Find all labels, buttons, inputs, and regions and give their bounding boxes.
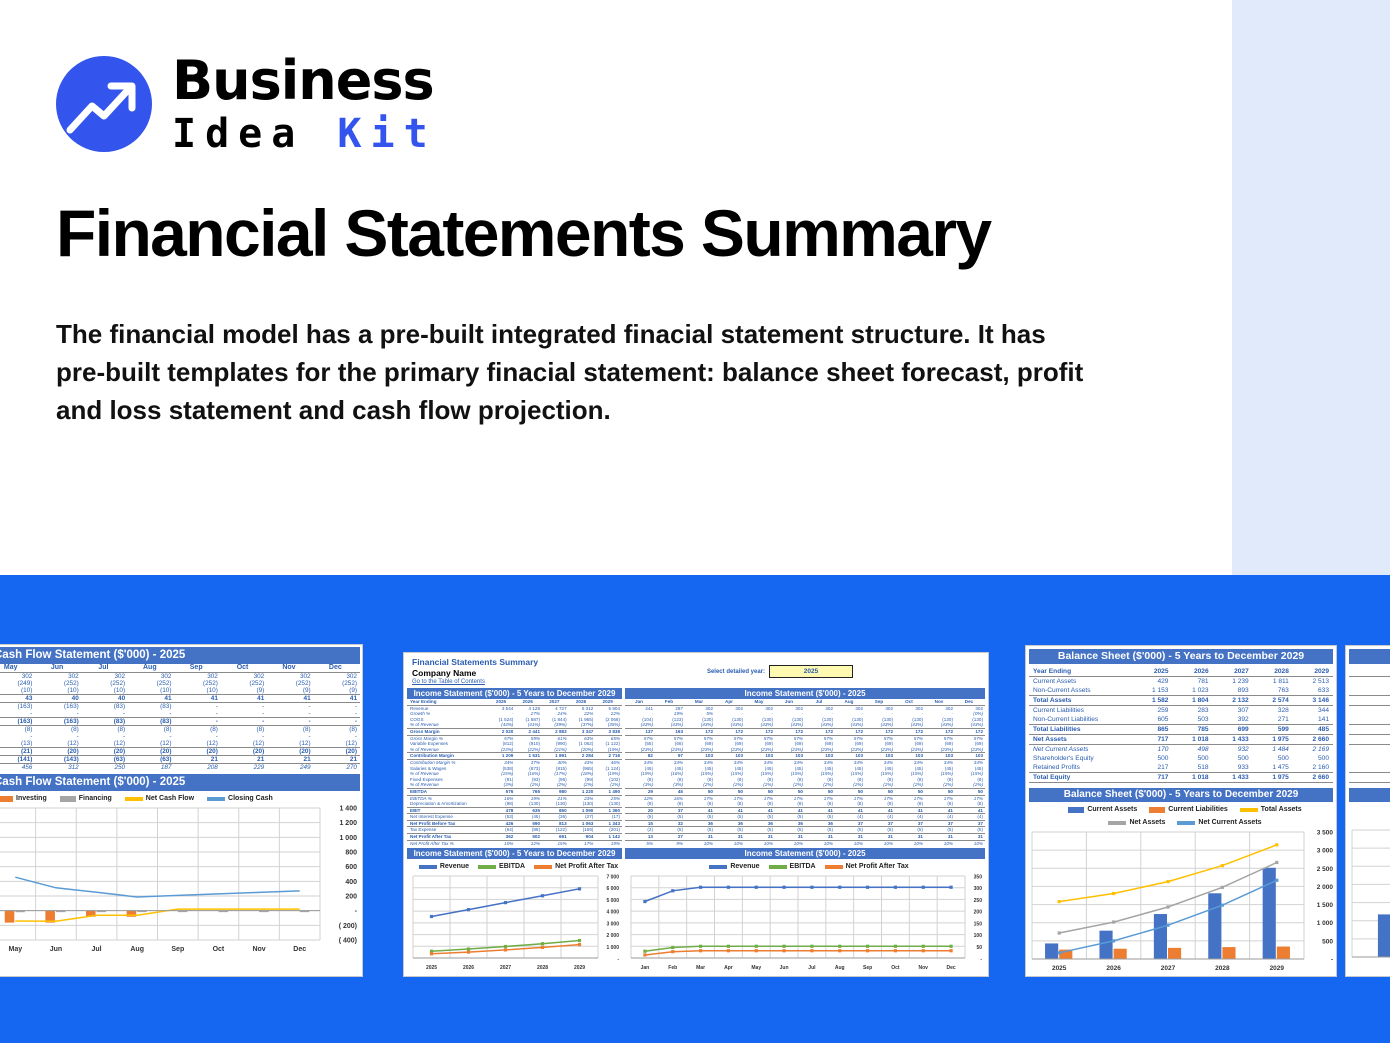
y-axis-tick: 2 000 [606,933,619,939]
chart-marker [838,886,841,889]
x-axis-tick: Mar [696,965,705,971]
y-axis-tick: 1 000 [606,945,619,951]
chart-marker [810,949,813,952]
chart-marker [1166,905,1169,908]
chart-marker [1275,879,1278,882]
x-axis-tick: Jan [641,965,650,971]
chart-marker [922,949,925,952]
legend-label: Total Assets [1261,806,1302,813]
partial-title-bar [1349,649,1390,664]
brand-logo: Business Idea Kit [56,54,437,154]
chart-marker [430,915,433,918]
chart-marker [755,945,758,948]
legend-item: Investing [0,795,47,802]
table-row: 203741414141414141414141 [625,807,985,814]
chart-marker [782,945,785,948]
monthly-income-statement-table: JanFebMarAprMayJunJulAugSepOctNovDec2412… [625,699,985,846]
legend-swatch [709,865,727,869]
table-row: Shareholder's Equity500500500500500 [1029,754,1333,763]
table-row: (163)(163)(83)(83)---- [0,703,360,711]
chart-svg: Jan [1346,826,1390,971]
legend-swatch [125,797,143,801]
legend-item: Net Assets [1108,819,1165,826]
table-row: Net Interest Expense(53)(45)(36)(27)(17) [407,814,622,821]
chart-marker [1166,924,1169,927]
table-row: 512 [1349,735,1390,745]
table-row: Contribution Margin1 2091 5311 8912 2842… [407,753,622,760]
brand-name-secondary: Idea Kit [172,114,437,154]
annual-income-statement-body: Year Ending20252026202720282029Revenue3 … [407,699,622,846]
y-axis-tick: 2 000 [1317,884,1334,891]
legend-item: Revenue [709,863,759,870]
table-row: MayJunJulAugSepOctNovDec [0,664,360,673]
table-row: EBIT4786358501 0901 360 [407,807,622,814]
table-row: -------- [0,710,360,718]
y-axis-tick: 1 000 [1317,920,1334,927]
y-axis-tick: 1 500 [1317,902,1334,909]
summary-sheet-title: Financial Statements Summary [404,653,988,667]
chart-marker [578,943,581,946]
table-row: 4340404141414141 [0,695,360,703]
chart-marker [643,954,646,957]
chart-marker [838,945,841,948]
x-axis-tick: 2025 [1052,965,1067,972]
chart-marker [643,950,646,953]
table-row: Total Equity7171 0181 4331 9752 660 [1029,773,1333,783]
chart-marker [866,945,869,948]
chart-marker [894,945,897,948]
legend-label: Closing Cash [228,795,273,802]
table-row: (141)(143)(63)(63)21212121 [0,756,360,764]
chart-marker [541,894,544,897]
y-axis-tick: 1 400 [339,806,357,813]
legend-label: Net Profit After Tax [846,863,909,870]
table-row: 93 [1349,706,1390,716]
balance-sheet-chart-legend: Current AssetsCurrent LiabilitiesTotal A… [1026,802,1336,828]
chart-marker [755,949,758,952]
chart-marker [894,949,897,952]
chart-marker [866,886,869,889]
table-row: 1 297 [1349,696,1390,706]
table-row: Retained Profits2175189331 4752 160 [1029,763,1333,773]
table-row: 302302302302302302302302 [0,673,360,681]
table-row: 5%9%10%10%10%10%10%10%10%10%10%10% [625,840,985,846]
x-axis-tick: May [9,946,23,953]
legend-label: Investing [16,795,47,802]
table-row: 456312250187208229249270 [0,764,360,772]
cash-flow-table-title: Cash Flow Statement ($'000) - 2025 [0,647,360,664]
table-row: (249)(252)(252)(252)(252)(252)(252)(252) [0,680,360,687]
cash-flow-chart-title: Cash Flow Statement ($'000) - 2025 [0,774,360,791]
y-axis-tick: 3 000 [1317,848,1334,855]
legend-label: Net Cash Flow [146,795,194,802]
legend-label: Financing [79,795,112,802]
table-row: 1 081 [1349,745,1390,755]
table-row: Tax Expense(64)(89)(122)(159)(201) [407,827,622,834]
x-axis-tick: 2028 [1215,965,1230,972]
y-axis-tick: - [1331,957,1333,964]
legend-item: EBITDA [769,863,816,870]
annual-income-chart-title: Income Statement ($'000) - 5 Years to De… [407,848,622,859]
y-axis-tick: 200 [974,910,983,916]
chart-bar [1208,893,1221,959]
chart-marker [810,945,813,948]
table-row: Current Assets4297811 2391 8112 513 [1029,677,1333,687]
legend-swatch [419,865,437,869]
x-axis-tick: Jun [780,965,789,971]
decorative-sidebar-band [1232,0,1390,575]
table-row: (163)(163)(83)(83)---- [0,718,360,726]
legend-label: Current Assets [1087,806,1137,813]
chart-marker [699,949,702,952]
chart-marker [782,949,785,952]
legend-swatch [1068,807,1084,813]
monthly-income-chart-legend: RevenueEBITDANet Profit After Tax [625,859,985,872]
legend-label: Current Liabilities [1168,806,1228,813]
chart-marker [578,939,581,942]
chart-marker [866,949,869,952]
balance-sheet-chart-title: Balance Sheet ($'000) - 5 Years to Decem… [1029,788,1333,802]
chart-bar [1099,931,1112,959]
x-axis-tick: Jun [50,946,62,953]
table-row: 153236363636363737373737 [625,820,985,827]
table-row: Net Current Assets1704989321 4842 169 [1029,745,1333,755]
legend-item: Net Profit After Tax [825,863,909,870]
partial-chart-title-bar [1349,788,1390,802]
x-axis-tick: Oct [213,946,225,953]
y-axis-tick: 50 [976,945,982,951]
legend-label: EBITDA [790,863,816,870]
table-row: Jan [1349,667,1390,677]
y-axis-tick: 4 000 [606,910,619,916]
chart-marker [671,889,674,892]
x-axis-tick: May [751,965,761,971]
table-row: (10)(10)(10)(10)(10)(9)(9)(9) [0,687,360,695]
table-row: (8)(8)(8)(8)(8)(8)(8)(8) [0,726,360,734]
chart-bar [1277,947,1290,959]
legend-swatch [825,865,843,869]
chart-marker [541,946,544,949]
y-axis-tick: - [355,908,358,915]
chart-bar [1378,914,1390,957]
x-axis-tick: Sep [171,946,184,953]
chart-marker [1058,951,1061,954]
annual-income-statement-title: Income Statement ($'000) - 5 Years to De… [407,688,622,699]
partial-balance-body: Jan1 1741241 297936927865121 08150012512 [1349,667,1390,783]
x-axis-tick: Aug [835,965,845,971]
x-axis-tick: 2029 [1270,965,1285,972]
table-row: EBITDA5767659801 2201 490 [407,788,622,795]
y-axis-tick: 200 [345,894,357,901]
legend-swatch [60,796,76,802]
table-row: Total Liabilities865785699599485 [1029,725,1333,735]
partial-chart-plot: Jan [1346,826,1390,971]
legend-swatch [1177,821,1195,825]
cash-flow-table: MayJunJulAugSepOctNovDec3023023023023023… [0,664,360,771]
table-row: -------- [0,733,360,740]
legend-swatch [769,865,787,869]
chart-marker [1112,920,1115,923]
cash-flow-table-body: MayJunJulAugSepOctNovDec3023023023023023… [0,664,360,771]
table-of-contents-link[interactable]: Go to the Table of Contents [404,678,988,685]
table-row: 512 [1349,773,1390,783]
monthly-income-statement-title: Income Statement ($'000) - 2025 [625,688,985,699]
cash-flow-chart-legend: InvestingFinancingNet Cash FlowClosing C… [0,791,360,804]
chart-marker [1166,880,1169,883]
year-selector-input[interactable]: 2025 [769,665,853,678]
y-axis-tick: ( 400) [339,938,357,945]
balance-sheet-chart-plot: 3 5003 0002 5002 0001 5001 000500-202520… [1026,828,1336,973]
y-axis-tick: 5 000 [606,898,619,904]
table-row: 294550505050505050505050 [625,788,985,795]
chart-marker [1275,861,1278,864]
x-axis-tick: Aug [130,946,144,953]
chart-marker [782,886,785,889]
chart-marker [727,949,730,952]
chart-svg: 35030025020015010050-JanFebMarAprMayJunJ… [625,872,985,972]
partial-balance-sheet-card[interactable]: Jan1 1741241 297936927865121 08150012512… [1345,645,1390,977]
balance-sheet-table-title: Balance Sheet ($'000) - 5 Years to Decem… [1029,649,1333,664]
y-axis-tick: 3 000 [606,922,619,928]
y-axis-tick: ( 200) [339,923,357,930]
chart-svg: 3 5003 0002 5002 0001 5001 000500-202520… [1026,828,1336,973]
y-axis-tick: 100 [974,933,983,939]
table-row: (21)(20)(20)(20)(20)(20)(20)(20) [0,748,360,756]
x-axis-tick: Nov [252,946,265,953]
chart-marker [1112,892,1115,895]
table-row: (5)(5)(5)(5)(5)(5)(5)(4)(4)(4)(4)(4) [625,814,985,821]
partial-balance-table: Jan1 1741241 297936927865121 08150012512 [1349,667,1390,783]
legend-swatch [207,797,225,801]
table-row: Net Profit After Tax3625026919041 142 [407,834,622,841]
chart-marker [643,900,646,903]
chart-marker [467,908,470,911]
chart-marker [810,886,813,889]
x-axis-tick: Feb [668,965,677,971]
table-row: 500 [1349,754,1390,763]
chart-line [1059,880,1277,953]
y-axis-tick: 2 500 [1317,866,1334,873]
annual-income-chart-plot: 7 0006 0005 0004 0003 0002 0001 000-2025… [407,872,622,972]
table-row: Current Liabilities259283307328344 [1029,706,1333,716]
chart-bar [1114,949,1127,959]
chart-marker [1221,904,1224,907]
legend-item: Total Assets [1240,806,1302,813]
x-axis-tick: 2026 [1106,965,1121,972]
y-axis-tick: 300 [974,886,983,892]
chart-line [1059,845,1277,902]
chart-marker [949,945,952,948]
brand-idea-text: Idea [172,111,337,157]
brand-kit-text: Kit [337,111,436,157]
legend-item: Net Profit After Tax [534,863,618,870]
legend-swatch [534,865,552,869]
legend-item: Revenue [419,863,469,870]
y-axis-tick: - [617,957,619,963]
chart-marker [541,942,544,945]
y-axis-tick: 600 [345,864,357,871]
table-row: 132731313131313131313131 [625,834,985,841]
chart-marker [922,886,925,889]
y-axis-tick: 800 [345,850,357,857]
chart-marker [1221,864,1224,867]
legend-label: Net Profit After Tax [555,863,618,870]
table-row: 137163172172172172172172172172172172 [625,728,985,735]
legend-swatch [1149,807,1165,813]
chart-marker [467,951,470,954]
x-axis-tick: 2027 [1161,965,1176,972]
y-axis-tick: 350 [974,875,983,881]
table-row: Net Profit After Tax %10%12%15%17%19% [407,840,622,846]
financial-summary-screenshot-card[interactable]: Financial Statements Summary Company Nam… [403,652,989,977]
chart-marker [1058,900,1061,903]
y-axis-tick: 150 [974,922,983,928]
table-row: 8297103103103103103103103103103103 [625,753,985,760]
legend-item: Net Current Assets [1177,819,1261,826]
brand-name-primary: Business [172,54,437,108]
chart-marker [727,945,730,948]
x-axis-tick: Dec [946,965,955,971]
legend-label: Net Assets [1129,819,1165,826]
legend-swatch [1108,821,1126,825]
x-axis-tick: Nov [919,965,929,971]
y-axis-tick: - [980,957,982,963]
y-axis-tick: 500 [1322,938,1333,945]
summary-company-name: Company Name [404,667,988,678]
monthly-income-statement-body: JanFebMarAprMayJunJulAugSepOctNovDec2412… [625,699,985,846]
chart-bar [1222,947,1235,959]
page-description: The financial model has a pre-built inte… [56,315,1091,430]
legend-item: Net Cash Flow [125,795,194,802]
cash-flow-screenshot-card[interactable]: Cash Flow Statement ($'000) - 2025 MayJu… [0,644,363,977]
balance-sheet-table-body: Year Ending20252026202720282029Current A… [1029,667,1333,783]
table-row: Non-Current Assets1 1531 023893763633 [1029,686,1333,696]
x-axis-tick: Jul [92,946,102,953]
x-axis-tick: 2028 [537,965,548,971]
x-axis-tick: 2025 [426,965,437,971]
y-axis-tick: 1 200 [339,820,357,827]
chart-marker [699,886,702,889]
x-axis-tick: Jul [808,965,816,971]
legend-label: EBITDA [499,863,525,870]
y-axis-tick: 400 [345,879,357,886]
y-axis-tick: 7 000 [606,875,619,881]
chart-marker [949,886,952,889]
chart-marker [727,886,730,889]
legend-swatch [0,796,13,802]
chart-marker [504,901,507,904]
chart-marker [504,949,507,952]
balance-sheet-table: Year Ending20252026202720282029Current A… [1029,667,1333,783]
legend-item: Financing [60,795,112,802]
balance-sheet-screenshot-card[interactable]: Balance Sheet ($'000) - 5 Years to Decem… [1025,645,1337,977]
annual-income-chart-legend: RevenueEBITDANet Profit After Tax [407,859,622,872]
y-axis-tick: 1 000 [339,835,357,842]
chart-marker [838,949,841,952]
chart-marker [578,887,581,890]
chart-marker [671,950,674,953]
chart-marker [467,948,470,951]
table-row: Total Assets1 5821 8042 1322 5743 146 [1029,696,1333,706]
chart-marker [1058,931,1061,934]
legend-swatch [1240,808,1258,812]
monthly-income-chart-plot: 35030025020015010050-JanFebMarAprMayJunJ… [625,872,985,972]
table-row: 1 174 [1349,677,1390,687]
chart-marker [894,886,897,889]
table-row: 692 [1349,715,1390,725]
page-title: Financial Statements Summary [56,200,1176,266]
chart-marker [1112,939,1115,942]
year-selector[interactable]: Select detailed year: 2025 [707,665,853,678]
chart-marker [1221,886,1224,889]
legend-swatch [478,865,496,869]
legend-label: Revenue [730,863,759,870]
chart-marker [671,946,674,949]
legend-item: Closing Cash [207,795,273,802]
table-row: 12 [1349,763,1390,773]
annual-income-statement-table: Year Ending20252026202720282029Revenue3 … [407,699,622,846]
legend-label: Net Current Assets [1198,819,1261,826]
cash-flow-chart-plot: 1 4001 2001 000800600400200-( 200)( 400)… [0,804,360,954]
chart-marker [1275,843,1278,846]
x-axis-tick: Dec [293,946,306,953]
chart-marker [699,945,702,948]
y-axis-tick: 250 [974,898,983,904]
chart-bar [1045,943,1058,959]
legend-label: Revenue [440,863,469,870]
chart-marker [755,886,758,889]
table-row: 786 [1349,725,1390,735]
year-selector-label: Select detailed year: [707,669,765,675]
legend-item: Current Assets [1068,806,1137,813]
x-axis-tick: 2027 [500,965,511,971]
chart-marker [504,945,507,948]
chart-bar [5,911,15,923]
x-axis-tick: Apr [724,965,733,971]
monthly-income-chart-title: Income Statement ($'000) - 2025 [625,848,985,859]
chart-svg: 1 4001 2001 000800600400200-( 200)( 400)… [0,804,360,954]
chart-marker [430,952,433,955]
table-row: (13)(12)(12)(12)(12)(12)(12)(12) [0,740,360,748]
chart-bar [1154,914,1167,959]
y-axis-tick: 6 000 [606,886,619,892]
x-axis-tick: 2029 [574,965,585,971]
x-axis-tick: 2026 [463,965,474,971]
table-row: Non-Current Liabilities605503392271141 [1029,715,1333,725]
table-row: 124 [1349,686,1390,696]
table-row: (2)(5)(5)(5)(5)(5)(5)(5)(5)(5)(5)(5) [625,827,985,834]
table-row: Year Ending20252026202720282029 [1029,667,1333,677]
chart-marker [949,949,952,952]
table-row: Gross Margin2 0202 4412 8833 3473 838 [407,728,622,735]
chart-svg: 7 0006 0005 0004 0003 0002 0001 000-2025… [407,872,622,972]
x-axis-tick: Sep [863,965,872,971]
legend-item: EBITDA [478,863,525,870]
chart-marker [922,945,925,948]
x-axis-tick: Oct [891,965,900,971]
y-axis-tick: 3 500 [1317,830,1334,837]
table-row: Net Profit Before Tax4265908131 0631 343 [407,820,622,827]
chart-bar [1168,948,1181,959]
legend-item: Current Liabilities [1149,806,1228,813]
table-row: Net Assets7171 0181 4331 9752 660 [1029,735,1333,745]
growth-arrow-icon [56,56,152,152]
